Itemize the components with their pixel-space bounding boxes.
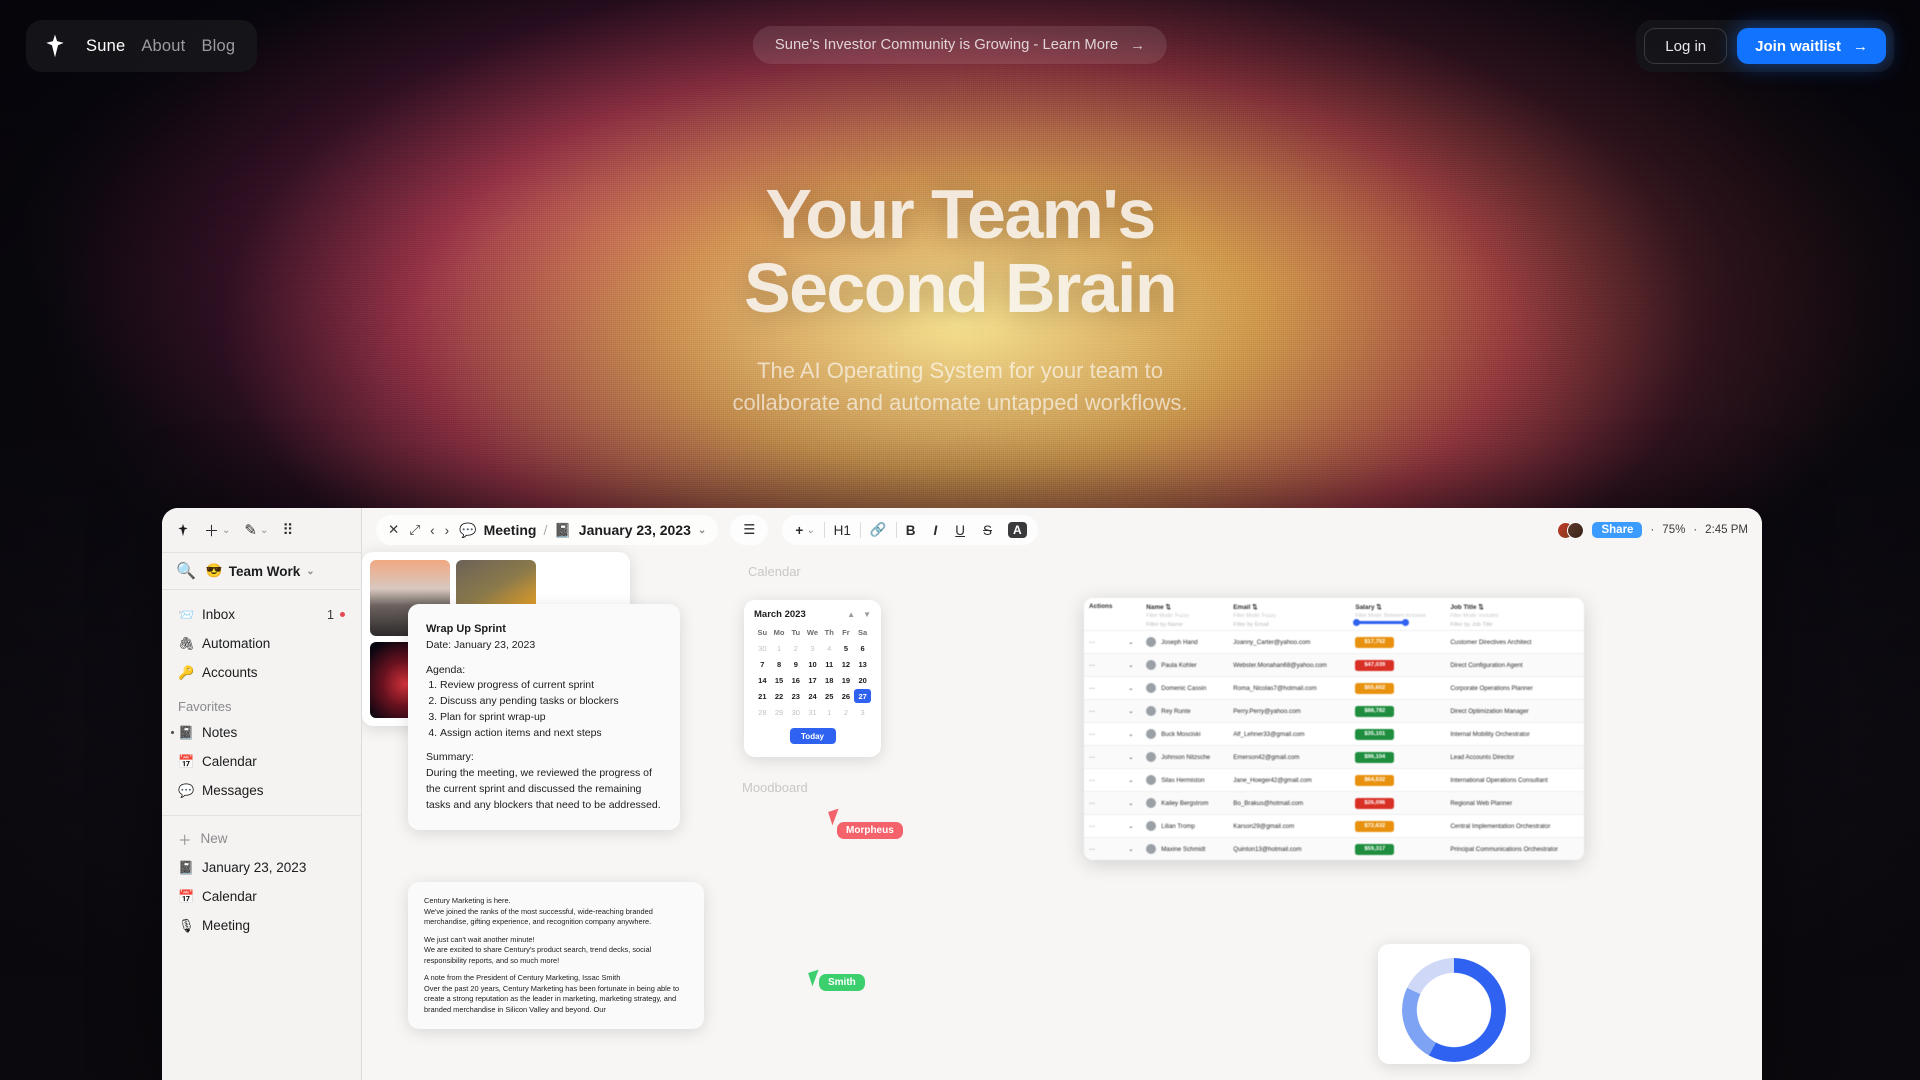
- calendar-grid[interactable]: SuMoTuWeThFrSa30123456789101112131415161…: [754, 626, 871, 719]
- collaborator-cursor-smith: Smith: [810, 964, 865, 991]
- sidebar-item-calendar-recent[interactable]: 📅 Calendar: [162, 882, 361, 911]
- calendar-weekday: Fr: [838, 626, 855, 639]
- chevron-down-icon: ⌄: [222, 525, 230, 536]
- cell-job-title: Direct Optimization Manager: [1445, 700, 1584, 723]
- calendar-day[interactable]: 1: [821, 705, 838, 719]
- calendar-day[interactable]: 23: [787, 689, 804, 703]
- row-expand[interactable]: ⌄: [1123, 654, 1141, 677]
- format-underline-button[interactable]: U: [946, 523, 974, 538]
- table-row[interactable]: ···⌄Lilian TrompKarson29@gmail.com$72,63…: [1084, 815, 1584, 838]
- calendar-day[interactable]: 12: [838, 657, 855, 671]
- calendar-today-button[interactable]: Today: [790, 728, 836, 744]
- navbar-left: Sune About Blog: [26, 20, 257, 72]
- marketing-p2-line1: We just can't wait another minute!: [424, 935, 535, 944]
- cell-name: Kailey Bergstrom: [1141, 792, 1228, 815]
- cell-name: Rey Runte: [1141, 700, 1228, 723]
- calendar-weekday: We: [804, 626, 821, 639]
- cell-name: Buck Mosciski: [1141, 723, 1228, 746]
- note-title: Wrap Up Sprint: [426, 623, 506, 635]
- sidebar-item-label: January 23, 2023: [202, 860, 306, 875]
- row-actions[interactable]: ···: [1084, 746, 1123, 769]
- table-col-job-title: Job Title ⇅ Filter Mode: IncludesFilter …: [1445, 598, 1584, 631]
- cell-email: Roma_Nicolas7@hotmail.com: [1228, 677, 1350, 700]
- cell-name: Johnson Nitzsche: [1141, 746, 1228, 769]
- calendar-day[interactable]: 30: [787, 705, 804, 719]
- calendar-day[interactable]: 7: [754, 657, 771, 671]
- calendar-day[interactable]: 22: [771, 689, 788, 703]
- sidebar-item-calendar[interactable]: 📅 Calendar: [162, 747, 361, 776]
- calendar-day[interactable]: 2: [787, 641, 804, 655]
- calendar-day[interactable]: 26: [838, 689, 855, 703]
- calendar-weekday: Tu: [787, 626, 804, 639]
- cell-salary: $72,632: [1350, 815, 1445, 838]
- format-italic-button[interactable]: I: [924, 523, 946, 538]
- key-icon: 🔑: [178, 665, 193, 681]
- breadcrumb[interactable]: 💬 Meeting / 📓 January 23, 2023 ⌄: [459, 522, 706, 539]
- row-expand[interactable]: ⌄: [1123, 769, 1141, 792]
- breadcrumb-separator: /: [543, 522, 547, 538]
- sidebar-item-january-23-2023[interactable]: 📓 January 23, 2023: [162, 853, 361, 882]
- agenda-item: Review progress of current sprint: [440, 678, 662, 694]
- announcement-text: Sune's Investor Community is Growing - L…: [775, 37, 1118, 53]
- calendar-weekday: Sa: [854, 626, 871, 639]
- calendar-day[interactable]: 27: [854, 689, 871, 703]
- calendar-month-label: March 2023: [754, 609, 806, 620]
- format-strikethrough-button[interactable]: S: [974, 523, 1001, 538]
- avatar: [1567, 522, 1584, 539]
- cell-job-title: Lead Accounts Director: [1445, 746, 1584, 769]
- table-row[interactable]: ···⌄Maxine SchmidtQuinton13@hotmail.com$…: [1084, 838, 1584, 861]
- toolbar-status-group: Share · 75% · 2:45 PM: [1557, 522, 1748, 539]
- sidebar-item-label: Accounts: [202, 665, 258, 680]
- row-actions[interactable]: ···: [1084, 838, 1123, 861]
- sidebar-item-inbox[interactable]: 📨 Inbox 1: [162, 600, 361, 629]
- marketing-p3-line2: Over the past 20 years, Century Marketin…: [424, 984, 679, 1014]
- sidebar-item-label: Automation: [202, 636, 270, 651]
- page-root: Sune About Blog Sune's Investor Communit…: [0, 0, 1920, 1080]
- note-agenda-list: Review progress of current sprint Discus…: [440, 678, 662, 741]
- format-link-button[interactable]: 🔗: [861, 522, 896, 538]
- app-sidebar: ＋⌄ ✎⌄ ⠿ 🔍 😎 Team Work ⌄ 📨 Inbox 1: [162, 508, 362, 1080]
- spacer: [426, 654, 662, 663]
- sidebar-item-notes[interactable]: 📓 Notes: [162, 718, 361, 747]
- microphone-icon: 🎙: [178, 918, 193, 934]
- table-row[interactable]: ···⌄Joseph HandJoanny_Carter@yahoo.com$1…: [1084, 631, 1584, 654]
- share-button[interactable]: Share: [1592, 522, 1642, 538]
- join-waitlist-label: Join waitlist: [1755, 38, 1841, 55]
- inbox-badge: 1: [327, 608, 345, 622]
- spacer: [426, 741, 662, 750]
- back-icon[interactable]: ‹: [430, 523, 435, 538]
- arrow-right-icon: →: [1130, 37, 1145, 54]
- calendar-day[interactable]: 8: [771, 657, 788, 671]
- calendar-weekday: Th: [821, 626, 838, 639]
- calendar-day[interactable]: 17: [804, 673, 821, 687]
- calendar-day[interactable]: 31: [804, 705, 821, 719]
- donut-chart-card[interactable]: [1378, 944, 1530, 1064]
- nav-link-about[interactable]: About: [141, 37, 185, 56]
- hero-subtitle-line1: The AI Operating System for your team to: [757, 358, 1163, 383]
- cursor-label: Morpheus: [837, 822, 903, 839]
- calendar-day[interactable]: 13: [854, 657, 871, 671]
- calendar-day[interactable]: 11: [821, 657, 838, 671]
- calendar-day[interactable]: 21: [754, 689, 771, 703]
- cell-salary: $35,101: [1350, 723, 1445, 746]
- row-actions[interactable]: ···: [1084, 723, 1123, 746]
- navbar-right: Log in Join waitlist →: [1636, 20, 1894, 72]
- expand-icon[interactable]: ⤢: [409, 522, 420, 538]
- hero-title: Your Team's Second Brain: [0, 178, 1920, 325]
- add-new-button[interactable]: ＋⌄: [204, 520, 230, 541]
- calendar-day[interactable]: 24: [804, 689, 821, 703]
- marketing-p1-line1: Century Marketing is here.: [424, 896, 511, 905]
- sidebar-item-label: Inbox: [202, 607, 235, 622]
- table-row[interactable]: ···⌄Rey RuntePerry.Perry@yahoo.com$88,78…: [1084, 700, 1584, 723]
- calendar-day[interactable]: 15: [771, 673, 788, 687]
- breadcrumb-child-label[interactable]: January 23, 2023: [579, 522, 691, 538]
- cell-name: Paula Kohler: [1141, 654, 1228, 677]
- table-col-actions: Actions: [1084, 598, 1123, 631]
- cursor-pointer-icon: [828, 808, 843, 825]
- row-expand[interactable]: ⌄: [1123, 792, 1141, 815]
- calendar-icon: 📅: [178, 889, 193, 905]
- table-body: ···⌄Joseph HandJoanny_Carter@yahoo.com$1…: [1084, 631, 1584, 861]
- list-view-button[interactable]: ☰: [734, 522, 764, 538]
- note-summary-text: During the meeting, we reviewed the prog…: [426, 767, 661, 811]
- calendar-day[interactable]: 9: [787, 657, 804, 671]
- app-preview-window: ＋⌄ ✎⌄ ⠿ 🔍 😎 Team Work ⌄ 📨 Inbox 1: [162, 508, 1762, 1080]
- sidebar-item-automation[interactable]: 🖇 Automation: [162, 629, 361, 658]
- sidebar-nav-list: 📨 Inbox 1 🖇 Automation 🔑 Accounts Favori…: [162, 590, 361, 940]
- row-actions[interactable]: ···: [1084, 815, 1123, 838]
- cell-job-title: Central Implementation Orchestrator: [1445, 815, 1584, 838]
- cell-email: Joanny_Carter@yahoo.com: [1228, 631, 1350, 654]
- marketing-p1-line2: We've joined the ranks of the most succe…: [424, 907, 653, 927]
- row-expand[interactable]: ⌄: [1123, 815, 1141, 838]
- status-separator: ·: [1650, 524, 1654, 536]
- sidebar-toolbar: ＋⌄ ✎⌄ ⠿: [162, 508, 361, 552]
- calendar-day[interactable]: 1: [771, 641, 788, 655]
- cell-job-title: Direct Configuration Agent: [1445, 654, 1584, 677]
- calendar-day[interactable]: 3: [804, 641, 821, 655]
- cell-email: Bo_Brakus@hotmail.com: [1228, 792, 1350, 815]
- calendar-day[interactable]: 25: [821, 689, 838, 703]
- sune-logo-icon[interactable]: [176, 523, 190, 537]
- nav-brand-label[interactable]: Sune: [86, 37, 125, 56]
- sidebar-item-label: Messages: [202, 783, 264, 798]
- sidebar-new-button[interactable]: ＋ New: [162, 824, 361, 853]
- breadcrumb-parent-label[interactable]: Meeting: [484, 522, 537, 538]
- sidebar-item-label: Calendar: [202, 754, 257, 769]
- row-expand[interactable]: ⌄: [1123, 838, 1141, 861]
- calendar-day[interactable]: 29: [771, 705, 788, 719]
- cell-job-title: Corporate Operations Planner: [1445, 677, 1584, 700]
- zoom-level[interactable]: 75%: [1662, 524, 1685, 536]
- apps-grid-button[interactable]: ⠿: [282, 521, 293, 539]
- format-h1-button[interactable]: H1: [825, 523, 860, 538]
- row-expand[interactable]: ⌄: [1123, 677, 1141, 700]
- cell-salary: $17,752: [1350, 631, 1445, 654]
- sidebar-item-accounts[interactable]: 🔑 Accounts: [162, 658, 361, 687]
- wrap-up-sprint-note-card[interactable]: Wrap Up Sprint Date: January 23, 2023 Ag…: [408, 604, 680, 830]
- marketing-p2-line2: We are excited to share Century's produc…: [424, 945, 651, 965]
- cursor-label: Smith: [819, 974, 865, 991]
- cell-salary: $26,096: [1350, 792, 1445, 815]
- calendar-day[interactable]: 10: [804, 657, 821, 671]
- donut-chart: [1402, 958, 1506, 1062]
- agenda-item: Assign action items and next steps: [440, 726, 662, 742]
- edit-pencil-button[interactable]: ✎⌄: [244, 521, 268, 539]
- table-col-select: [1123, 598, 1141, 631]
- cursor-pointer-icon: [808, 969, 823, 986]
- cell-salary: $96,104: [1350, 746, 1445, 769]
- table-row[interactable]: ···⌄Silas HermistonJane_Hoeger42@gmail.c…: [1084, 769, 1584, 792]
- app-canvas: Calendar Moodboard Wrap Up Sprint Date: …: [362, 552, 1762, 1080]
- note-agenda-label: Agenda:: [426, 664, 465, 676]
- workspace-emoji: 😎: [206, 563, 223, 579]
- calendar-weekday: Mo: [771, 626, 788, 639]
- row-expand[interactable]: ⌄: [1123, 746, 1141, 769]
- calendar-day[interactable]: 20: [854, 673, 871, 687]
- row-actions[interactable]: ···: [1084, 677, 1123, 700]
- cell-name: Joseph Hand: [1141, 631, 1228, 654]
- sidebar-item-messages[interactable]: 💬 Messages: [162, 776, 361, 805]
- row-expand[interactable]: ⌄: [1123, 631, 1141, 654]
- cell-job-title: Customer Directives Architect: [1445, 631, 1584, 654]
- arrow-right-icon: →: [1853, 38, 1868, 55]
- calendar-header: March 2023 ▲▼: [754, 609, 871, 620]
- hero-title-line1: Your Team's: [765, 175, 1154, 253]
- login-button[interactable]: Log in: [1644, 28, 1727, 64]
- cell-salary: $55,602: [1350, 677, 1445, 700]
- format-toolbar: +⌄ H1 🔗 B I U S A: [782, 515, 1037, 545]
- table-row[interactable]: ···⌄Domenic CassinRoma_Nicolas7@hotmail.…: [1084, 677, 1584, 700]
- cell-name: Domenic Cassin: [1141, 677, 1228, 700]
- sidebar-item-label: Meeting: [202, 918, 250, 933]
- sidebar-item-label: Calendar: [202, 889, 257, 904]
- calendar-day[interactable]: 28: [754, 705, 771, 719]
- agenda-item: Plan for sprint wrap-up: [440, 710, 662, 726]
- hero-subtitle-line2: collaborate and automate untapped workfl…: [733, 390, 1188, 415]
- cell-email: Jane_Hoeger42@gmail.com: [1228, 769, 1350, 792]
- breadcrumb-child-icon: 📓: [554, 522, 571, 539]
- join-waitlist-button[interactable]: Join waitlist →: [1737, 28, 1886, 64]
- row-actions[interactable]: ···: [1084, 654, 1123, 677]
- calendar-day[interactable]: 16: [787, 673, 804, 687]
- cell-job-title: Principal Communications Orchestrator: [1445, 838, 1584, 861]
- calendar-day[interactable]: 5: [838, 641, 855, 655]
- table-row[interactable]: ···⌄Buck MosciskiAlf_Lehner33@gmail.com$…: [1084, 723, 1584, 746]
- chevron-down-icon[interactable]: ▼: [863, 610, 871, 619]
- row-actions[interactable]: ···: [1084, 792, 1123, 815]
- cell-job-title: International Operations Consultant: [1445, 769, 1584, 792]
- chevron-down-icon[interactable]: ⌄: [698, 525, 706, 536]
- calendar-weekday: Su: [754, 626, 771, 639]
- format-bold-button[interactable]: B: [897, 523, 925, 538]
- note-date: Date: January 23, 2023: [426, 639, 535, 651]
- row-actions[interactable]: ···: [1084, 700, 1123, 723]
- avatar-group: [1557, 522, 1584, 539]
- table-header-row: ActionsName ⇅ Filter Mode: FuzzyFilter b…: [1084, 598, 1584, 631]
- calendar-day[interactable]: 2: [838, 705, 855, 719]
- cell-salary: $64,532: [1350, 769, 1445, 792]
- collaborator-cursor-morpheus: Morpheus: [830, 794, 903, 839]
- calendar-day[interactable]: 18: [821, 673, 838, 687]
- inbox-icon: 📨: [178, 607, 193, 623]
- chevron-down-icon: ⌄: [306, 566, 314, 577]
- cell-email: Perry.Perry@yahoo.com: [1228, 700, 1350, 723]
- workspace-label: Team Work: [229, 564, 301, 579]
- note-summary-label: Summary:: [426, 751, 474, 763]
- chevron-up-icon[interactable]: ▲: [847, 610, 855, 619]
- sune-logo-icon[interactable]: [40, 31, 70, 61]
- workspace-selector[interactable]: 😎 Team Work ⌄: [206, 563, 315, 579]
- calendar-day[interactable]: 3: [854, 705, 871, 719]
- marketing-p3-line1: A note from the President of Century Mar…: [424, 973, 620, 982]
- plus-icon: ＋: [178, 829, 192, 849]
- chevron-down-icon: ⌄: [260, 525, 268, 536]
- agenda-item: Discuss any pending tasks or blockers: [440, 694, 662, 710]
- canvas-label-moodboard: Moodboard: [742, 780, 808, 795]
- cell-email: Karson29@gmail.com: [1228, 815, 1350, 838]
- table-col-email: Email ⇅ Filter Mode: FuzzyFilter by Emai…: [1228, 598, 1350, 631]
- table: ActionsName ⇅ Filter Mode: FuzzyFilter b…: [1084, 598, 1584, 860]
- table-row[interactable]: ···⌄Kailey BergstromBo_Brakus@hotmail.co…: [1084, 792, 1584, 815]
- cell-name: Lilian Tromp: [1141, 815, 1228, 838]
- app-main: ✕ ⤢ ‹ › 💬 Meeting / 📓 January 23, 2023 ⌄…: [362, 508, 1762, 1080]
- announcement-banner[interactable]: Sune's Investor Community is Growing - L…: [753, 26, 1167, 64]
- sidebar-new-label: New: [201, 831, 228, 846]
- calendar-day[interactable]: 30: [754, 641, 771, 655]
- spacer: [424, 966, 688, 973]
- search-icon[interactable]: 🔍: [176, 561, 196, 581]
- cell-name: Silas Hermiston: [1141, 769, 1228, 792]
- breadcrumb-parent-icon: 💬: [459, 522, 476, 539]
- table-col-salary: Salary ⇅ Filter Mode: Between Inclusive: [1350, 598, 1445, 631]
- calendar-widget[interactable]: March 2023 ▲▼ SuMoTuWeThFrSa301234567891…: [744, 600, 881, 757]
- row-actions[interactable]: ···: [1084, 631, 1123, 654]
- sidebar-search-row[interactable]: 🔍 😎 Team Work ⌄: [162, 552, 361, 590]
- calendar-day[interactable]: 19: [838, 673, 855, 687]
- row-expand[interactable]: ⌄: [1123, 723, 1141, 746]
- cell-email: Quinton13@hotmail.com: [1228, 838, 1350, 861]
- cell-job-title: Regional Web Planner: [1445, 792, 1584, 815]
- sidebar-divider: [162, 815, 361, 816]
- notes-icon: 📓: [178, 725, 193, 741]
- calendar-day[interactable]: 6: [854, 641, 871, 655]
- format-add-button[interactable]: +⌄: [786, 523, 823, 538]
- employee-data-table[interactable]: ActionsName ⇅ Filter Mode: FuzzyFilter b…: [1084, 598, 1584, 860]
- nav-link-blog[interactable]: Blog: [201, 37, 235, 56]
- status-separator: ·: [1693, 524, 1697, 536]
- calendar-nav: ▲▼: [847, 610, 871, 619]
- sidebar-item-meeting[interactable]: 🎙 Meeting: [162, 911, 361, 940]
- chevron-down-icon: ⌄: [806, 525, 814, 536]
- notes-icon: 📓: [178, 860, 193, 876]
- app-toolbar: ✕ ⤢ ‹ › 💬 Meeting / 📓 January 23, 2023 ⌄…: [362, 508, 1762, 552]
- toolbar-breadcrumb-group: ✕ ⤢ ‹ › 💬 Meeting / 📓 January 23, 2023 ⌄: [376, 515, 718, 545]
- table-row[interactable]: ···⌄Johnson NitzscheEmerson42@gmail.com$…: [1084, 746, 1584, 769]
- calendar-day[interactable]: 14: [754, 673, 771, 687]
- row-actions[interactable]: ···: [1084, 769, 1123, 792]
- unread-dot-icon: [340, 612, 345, 617]
- format-highlight-button[interactable]: A: [1008, 522, 1027, 538]
- hero-title-line2: Second Brain: [744, 249, 1176, 327]
- messages-icon: 💬: [178, 783, 193, 799]
- century-marketing-note-card[interactable]: Century Marketing is here. We've joined …: [408, 882, 704, 1029]
- cell-email: Webster.Monahan68@yahoo.com: [1228, 654, 1350, 677]
- table-row[interactable]: ···⌄Paula KohlerWebster.Monahan68@yahoo.…: [1084, 654, 1584, 677]
- automation-icon: 🖇: [178, 636, 193, 652]
- forward-icon[interactable]: ›: [445, 523, 450, 538]
- cell-salary: $47,039: [1350, 654, 1445, 677]
- cell-salary: $88,782: [1350, 700, 1445, 723]
- cell-job-title: Internal Mobility Orchestrator: [1445, 723, 1584, 746]
- cell-name: Maxine Schmidt: [1141, 838, 1228, 861]
- sidebar-item-label: Notes: [202, 725, 237, 740]
- inbox-count: 1: [327, 608, 334, 622]
- cell-salary: $59,317: [1350, 838, 1445, 861]
- toolbar-list-group: ☰: [730, 515, 768, 545]
- spacer: [424, 928, 688, 935]
- hero-subtitle: The AI Operating System for your team to…: [0, 355, 1920, 419]
- clock-time: 2:45 PM: [1705, 524, 1748, 536]
- calendar-icon: 📅: [178, 754, 193, 770]
- cell-email: Emerson42@gmail.com: [1228, 746, 1350, 769]
- hero-section: Your Team's Second Brain The AI Operatin…: [0, 178, 1920, 419]
- canvas-label-calendar: Calendar: [748, 564, 801, 579]
- sidebar-section-favorites: Favorites: [162, 687, 361, 718]
- cell-email: Alf_Lehner33@gmail.com: [1228, 723, 1350, 746]
- table-col-name: Name ⇅ Filter Mode: FuzzyFilter by Name: [1141, 598, 1228, 631]
- calendar-day[interactable]: 4: [821, 641, 838, 655]
- close-icon[interactable]: ✕: [388, 522, 399, 538]
- row-expand[interactable]: ⌄: [1123, 700, 1141, 723]
